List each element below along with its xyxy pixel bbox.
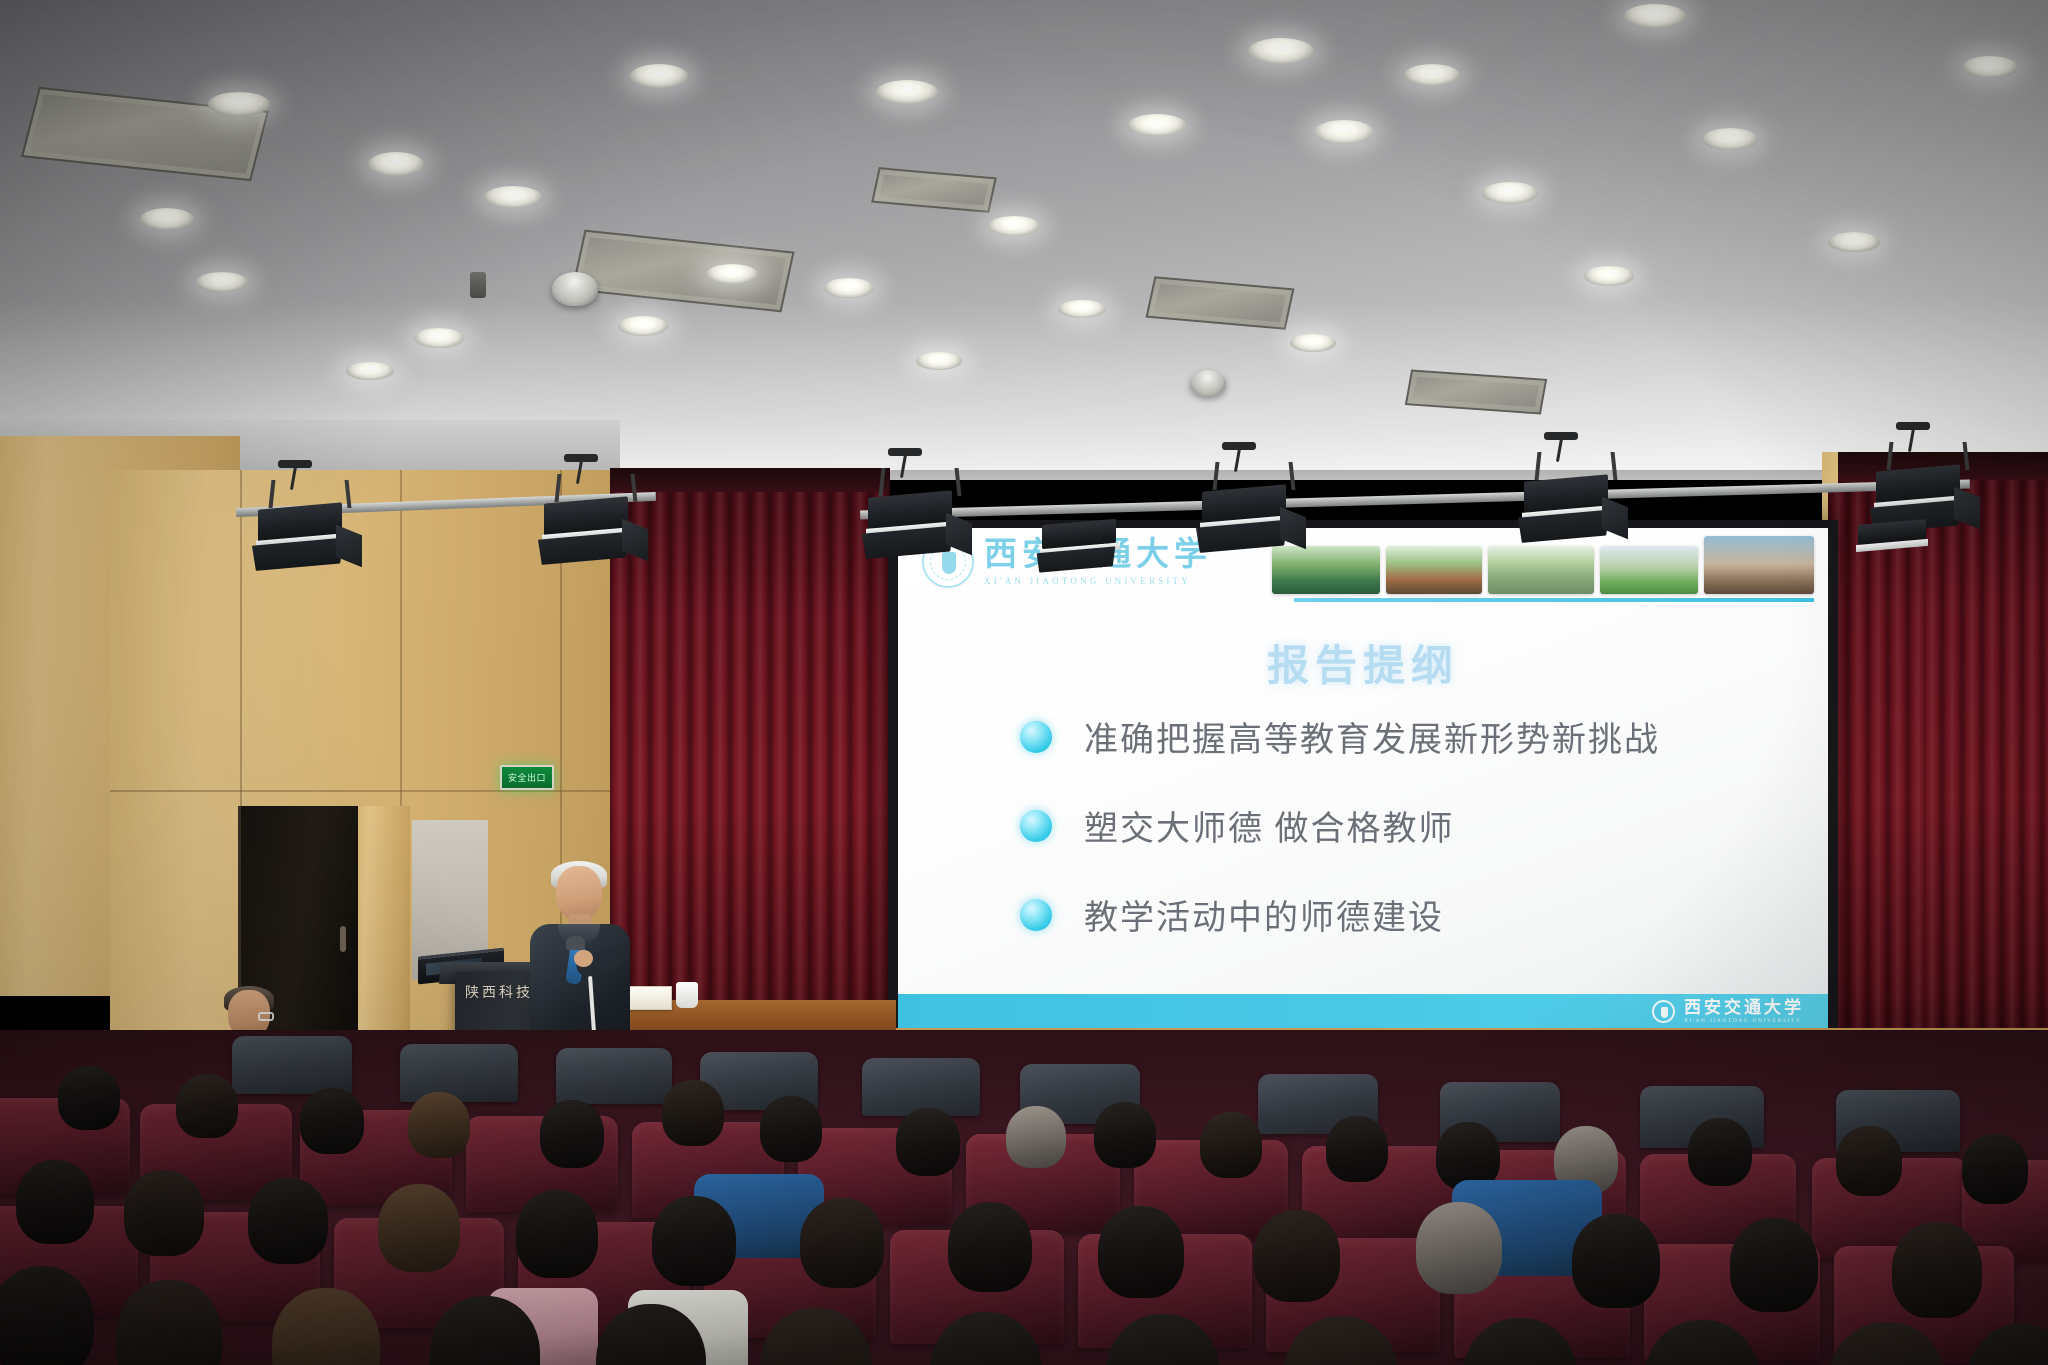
audience-head <box>1416 1202 1502 1294</box>
ceiling-downlight <box>630 64 688 88</box>
speaker-hand <box>574 950 593 967</box>
sprinkler-head <box>470 272 486 298</box>
bullet-dot-icon <box>1020 899 1052 931</box>
slide-footer-en: XI'AN JIAOTONG UNIVERSITY <box>1684 1018 1804 1024</box>
slide-footer-cn: 西安交通大学 <box>1684 999 1804 1016</box>
ceiling-downlight <box>140 208 194 230</box>
light-yoke-arm <box>631 474 638 502</box>
light-yoke-arm <box>345 480 352 508</box>
campus-photo <box>1386 546 1482 594</box>
audience-head <box>800 1198 884 1288</box>
audience-head <box>1892 1222 1982 1318</box>
emergency-exit-sign: 安全出口 <box>500 765 554 790</box>
seat-headrest <box>556 1048 672 1104</box>
audience-head <box>1200 1112 1262 1178</box>
stage-spotlight <box>1192 462 1312 554</box>
light-yoke-arm <box>269 480 276 508</box>
eyeglasses-icon <box>258 1012 274 1021</box>
light-yoke-arm <box>1535 452 1542 480</box>
audience-head <box>1006 1106 1066 1168</box>
ceiling-downlight <box>346 362 394 380</box>
auditorium-scene: 安全出口 西安交通大学 XI'AN JIAOTONG UNIVERSITY 报告… <box>0 0 2048 1365</box>
campus-photo-strip <box>1272 536 1814 594</box>
stage-spotlight <box>248 480 368 572</box>
audience-head <box>516 1190 598 1278</box>
audience-head <box>408 1092 470 1158</box>
ceiling-downlight <box>876 80 938 104</box>
ceiling-downlight <box>1624 4 1686 28</box>
slide-footer-bar: 西安交通大学 XI'AN JIAOTONG UNIVERSITY <box>898 994 1828 1028</box>
audience-head <box>1688 1118 1752 1186</box>
wall-wood-mid <box>358 806 410 1056</box>
ceiling-downlight <box>824 278 874 298</box>
ceiling-downlight <box>1828 232 1880 252</box>
stage-curtain-left <box>610 492 890 1052</box>
audience-head <box>1094 1102 1156 1168</box>
audience-head <box>652 1196 736 1286</box>
ceiling-speaker <box>552 272 598 306</box>
ceiling-downlight <box>988 216 1040 236</box>
audience-head <box>176 1074 238 1138</box>
seat-headrest <box>232 1036 352 1094</box>
campus-photo <box>1488 546 1594 594</box>
ceiling-downlight <box>196 272 248 292</box>
slide-brand-en: XI'AN JIAOTONG UNIVERSITY <box>984 576 1212 586</box>
audience-head <box>248 1178 328 1264</box>
list-item: 塑交大师德 做合格教师 <box>1020 801 1660 850</box>
audience-head <box>58 1066 120 1130</box>
bullet-dot-icon <box>1020 721 1052 753</box>
ceiling-speaker <box>1190 370 1226 396</box>
stage-spotlight <box>858 468 978 560</box>
stage-spotlight <box>534 474 654 566</box>
audience-head <box>948 1202 1032 1292</box>
door-handle[interactable] <box>340 926 346 952</box>
ceiling-downlight <box>1702 128 1758 150</box>
ceiling-downlight <box>208 92 270 116</box>
light-yoke-arm <box>1963 442 1970 470</box>
light-yoke-arm <box>879 468 886 496</box>
ceiling-downlight <box>414 328 464 348</box>
speaker-head <box>556 866 602 920</box>
ceiling-downlight <box>1128 114 1186 136</box>
ceiling-vent <box>871 167 997 213</box>
audience-head <box>1254 1210 1340 1302</box>
ceiling-downlight <box>1404 64 1460 86</box>
stage-spotlight <box>1514 452 1634 544</box>
audience-head <box>378 1184 460 1272</box>
stage-spotlight <box>1032 496 1142 576</box>
slide-header-rule <box>1294 598 1814 602</box>
stage-curtain-right <box>1922 480 2048 1060</box>
ceiling-downlight <box>1290 334 1336 352</box>
list-item: 准确把握高等教育发展新形势新挑战 <box>1020 712 1660 761</box>
ceiling-downlight <box>368 152 424 176</box>
ceiling-downlight <box>1962 56 2018 78</box>
audience-head <box>662 1080 724 1146</box>
ceiling-downlight <box>1584 266 1634 286</box>
ceiling-downlight <box>484 186 542 208</box>
light-yoke-arm <box>1289 462 1296 490</box>
wall-seam <box>110 790 640 792</box>
seat-headrest <box>862 1058 980 1116</box>
audience-head <box>760 1096 822 1162</box>
audience-head <box>896 1108 960 1176</box>
light-yoke-arm <box>555 474 562 502</box>
ceiling-downlight <box>706 264 758 284</box>
bullet-dot-icon <box>1020 810 1052 842</box>
stage-spotlight <box>1848 496 1958 566</box>
microphone-head-icon <box>566 936 585 950</box>
bullet-label: 准确把握高等教育发展新形势新挑战 <box>1084 712 1660 761</box>
projection-screen: 西安交通大学 XI'AN JIAOTONG UNIVERSITY 报告提纲 准确… <box>898 528 1828 1028</box>
light-yoke-arm <box>955 468 962 496</box>
campus-photo <box>1704 536 1814 594</box>
ceiling-downlight <box>1058 300 1106 318</box>
ceiling-downlight <box>1314 120 1374 144</box>
audience-head <box>300 1088 364 1154</box>
audience-head <box>1098 1206 1184 1298</box>
ceiling-downlight <box>618 316 668 336</box>
list-item: 教学活动中的师德建设 <box>1020 890 1660 939</box>
slide-title: 报告提纲 <box>898 632 1828 693</box>
ceiling-downlight <box>1482 182 1538 204</box>
audience-head <box>1572 1214 1660 1308</box>
water-cup <box>676 982 698 1008</box>
audience-head <box>1962 1134 2028 1204</box>
exit-sign-label: 安全出口 <box>508 771 546 784</box>
bullet-label: 教学活动中的师德建设 <box>1084 890 1444 939</box>
footer-seal-icon <box>1652 1000 1675 1023</box>
campus-photo <box>1600 546 1698 594</box>
speaker-person <box>524 866 634 1036</box>
ceiling-downlight <box>916 352 962 370</box>
light-yoke-arm <box>1213 462 1220 490</box>
audience-head <box>124 1170 204 1256</box>
audience-head <box>1836 1126 1902 1196</box>
audience-head <box>1326 1116 1388 1182</box>
seat-headrest <box>400 1044 518 1102</box>
audience-head <box>1730 1218 1818 1312</box>
lighting-truss-right <box>860 480 1970 520</box>
light-yoke-arm <box>1611 452 1618 480</box>
light-yoke-arm <box>1887 442 1894 470</box>
ceiling-downlight <box>1248 38 1314 64</box>
ceiling <box>0 0 2048 470</box>
slide-bullet-list: 准确把握高等教育发展新形势新挑战 塑交大师德 做合格教师 教学活动中的师德建设 <box>1020 712 1660 979</box>
audience-head <box>16 1160 94 1244</box>
stage-curtain-right-inner <box>1828 488 1924 1060</box>
audience-seating-area <box>0 1030 2048 1365</box>
audience-head <box>540 1100 604 1168</box>
bullet-label: 塑交大师德 做合格教师 <box>1084 801 1455 850</box>
